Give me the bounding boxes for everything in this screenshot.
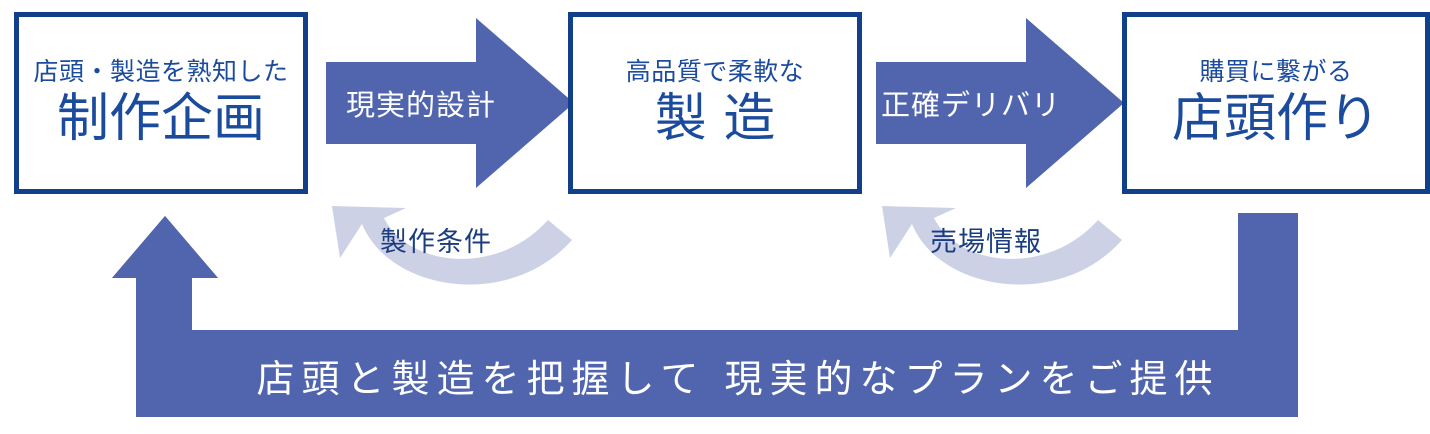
stage-box-3: 購買に繋がる 店頭作り [1122,12,1430,194]
stage-box-2: 高品質で柔軟な 製 造 [568,12,862,194]
stage-2-title: 製 造 [655,91,776,148]
bottom-loop-arrow: 店頭と製造を把握して 現実的なプランをご提供 [108,210,1303,420]
stage-box-1: 店頭・製造を熟知した 制作企画 [14,12,308,194]
forward-arrow-1-label: 現実的設計 [326,18,516,188]
stage-1-title: 制作企画 [57,91,265,148]
stage-1-caption: 店頭・製造を熟知した [33,58,288,86]
stage-2-caption: 高品質で柔軟な [626,58,805,86]
forward-arrow-1: 現実的設計 [326,18,574,188]
forward-arrow-2: 正確デリバリ [876,18,1124,188]
forward-arrow-2-label: 正確デリバリ [876,18,1066,188]
stage-3-title: 店頭作り [1172,91,1380,148]
bottom-loop-label: 店頭と製造を把握して 現実的なプランをご提供 [178,332,1298,418]
stage-3-caption: 購買に繋がる [1199,58,1352,86]
diagram-canvas: 店頭・製造を熟知した 制作企画 現実的設計 高品質で柔軟な 製 造 正確デリバリ… [0,0,1430,434]
